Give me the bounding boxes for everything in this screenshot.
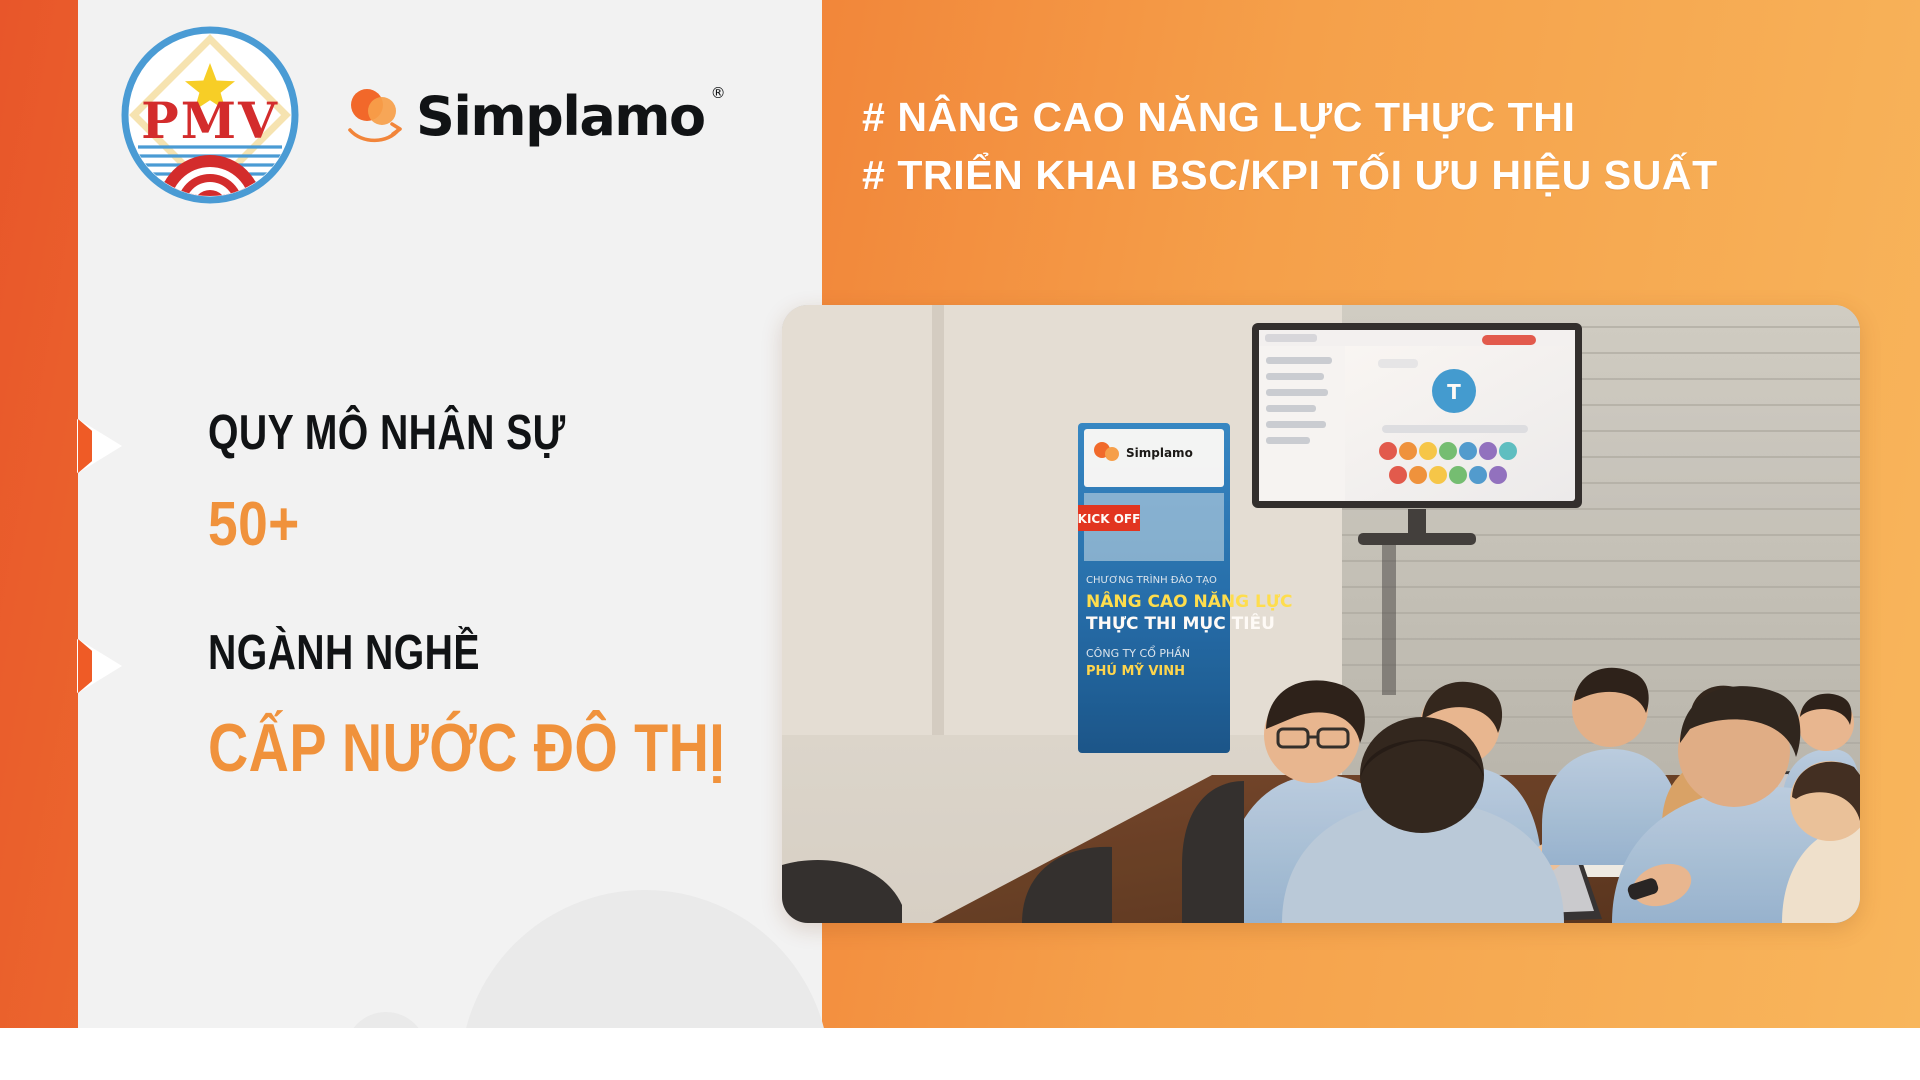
stat-value: 50+ [208,489,300,560]
simplamo-mark-icon [344,84,406,146]
pmv-logo-icon: PMV [120,25,300,205]
logo-lockup: PMV [120,20,680,210]
banner-canvas: PMV [0,0,1920,1080]
simplamo-wordmark: Simplamo [416,90,705,144]
svg-text:PMV: PMV [141,91,279,150]
simplamo-logo: Simplamo ® [344,84,730,146]
bottom-white-bar [0,1028,1920,1080]
event-photo: T [782,305,1860,923]
stat-label: NGÀNH NGHỀ [208,625,480,681]
stat-label: QUY MÔ NHÂN SỰ [208,405,566,461]
headline-block: # NÂNG CAO NĂNG LỰC THỰC THI # TRIỂN KHA… [862,88,1872,204]
trademark-symbol: ® [711,84,726,102]
headline-line-2: # TRIỂN KHAI BSC/KPI TỐI ƯU HIỆU SUẤT [862,146,1872,204]
stat-value: CẤP NƯỚC ĐÔ THỊ [208,709,725,787]
headline-line-1: # NÂNG CAO NĂNG LỰC THỰC THI [862,88,1872,146]
